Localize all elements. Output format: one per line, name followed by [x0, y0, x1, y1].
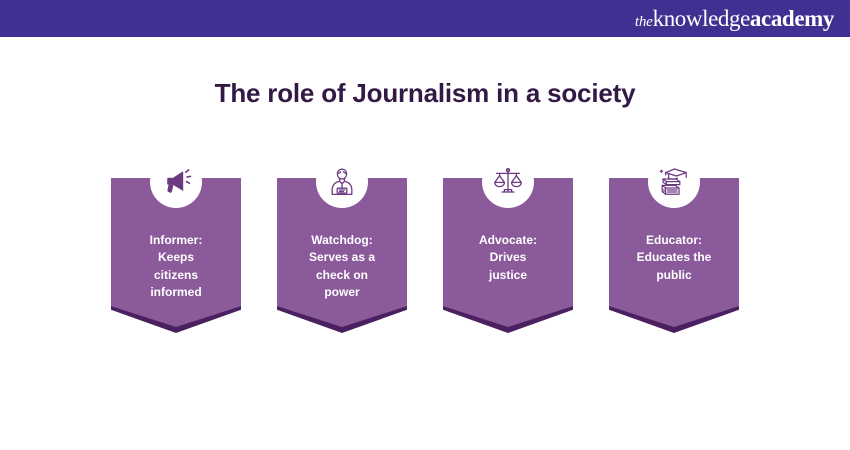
brand-the-text: the — [635, 15, 653, 30]
banner-label: Educator: Educates the public — [617, 232, 731, 284]
scales-of-justice-icon — [482, 156, 534, 208]
brand-logo[interactable]: theknowledgeacademy — [635, 7, 834, 30]
banner-advocate[interactable]: Advocate: Drives justice — [443, 156, 573, 336]
page-title: The role of Journalism in a society — [0, 78, 850, 109]
megaphone-icon — [150, 156, 202, 208]
banner-educator[interactable]: Educator: Educates the public — [609, 156, 739, 336]
banner-label: Advocate: Drives justice — [451, 232, 565, 284]
brand-academy-text: academy — [750, 7, 834, 30]
banner-row: Informer: Keeps citizens informed Watchd… — [0, 156, 850, 346]
books-graduation-cap-icon — [648, 156, 700, 208]
banner-label: Informer: Keeps citizens informed — [119, 232, 233, 302]
header-bar: theknowledgeacademy — [0, 0, 850, 37]
infographic-page: { "header": { "brand": { "the": "the", "… — [0, 0, 850, 450]
brand-knowledge-text: knowledge — [653, 7, 750, 30]
journalist-person-icon — [316, 156, 368, 208]
banner-watchdog[interactable]: Watchdog: Serves as a check on power — [277, 156, 407, 336]
banner-informer[interactable]: Informer: Keeps citizens informed — [111, 156, 241, 336]
banner-label: Watchdog: Serves as a check on power — [285, 232, 399, 302]
